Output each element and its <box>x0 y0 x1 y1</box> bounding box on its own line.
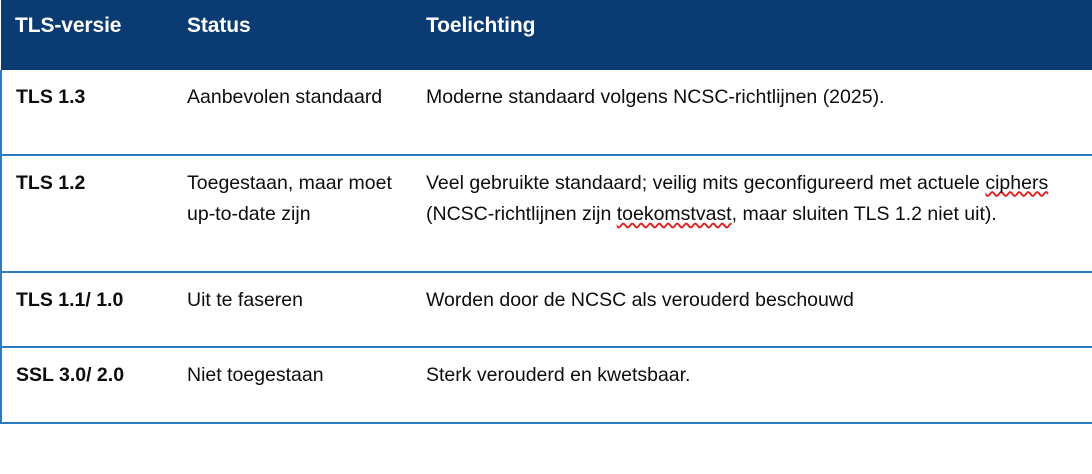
text-run: Veel gebruikte standaard; veilig mits ge… <box>426 172 985 194</box>
cell-status: Uit te faseren <box>184 272 421 348</box>
cell-version: SSL 3.0/ 2.0 <box>1 347 184 423</box>
table-header-row: TLS-versie Status Toelichting <box>1 0 1092 70</box>
column-header-tls-versie: TLS-versie <box>1 0 184 70</box>
cell-note: Moderne standaard volgens NCSC-richtlijn… <box>421 70 1092 155</box>
text-run: Worden door de NCSC als verouderd bescho… <box>426 289 854 311</box>
cell-status: Aanbevolen standaard <box>184 70 421 155</box>
table-row: TLS 1.1/ 1.0 Uit te faseren Worden door … <box>1 272 1092 348</box>
cell-status: Toegestaan, maar moet up-to-date zijn <box>184 155 421 272</box>
cell-version: TLS 1.1/ 1.0 <box>1 272 184 348</box>
misspelled-word[interactable]: ciphers <box>985 172 1048 194</box>
table-row: SSL 3.0/ 2.0 Niet toegestaan Sterk verou… <box>1 347 1092 423</box>
column-header-toelichting: Toelichting <box>421 0 1092 70</box>
column-header-status: Status <box>184 0 421 70</box>
text-run: (NCSC-richtlijnen zijn <box>426 203 617 225</box>
text-run: Sterk verouderd en kwetsbaar. <box>426 364 690 386</box>
text-run: Moderne standaard volgens NCSC-richtlijn… <box>426 86 884 108</box>
cell-version: TLS 1.3 <box>1 70 184 155</box>
table-body: TLS 1.3 Aanbevolen standaard Moderne sta… <box>1 70 1092 423</box>
tls-version-table: TLS-versie Status Toelichting TLS 1.3 Aa… <box>0 0 1092 424</box>
table-row: TLS 1.3 Aanbevolen standaard Moderne sta… <box>1 70 1092 155</box>
cell-note: Worden door de NCSC als verouderd bescho… <box>421 272 1092 348</box>
cell-note: Veel gebruikte standaard; veilig mits ge… <box>421 155 1092 272</box>
text-run: , maar sluiten TLS 1.2 niet uit). <box>732 203 997 225</box>
table-header: TLS-versie Status Toelichting <box>1 0 1092 70</box>
table-row: TLS 1.2 Toegestaan, maar moet up-to-date… <box>1 155 1092 272</box>
cell-note: Sterk verouderd en kwetsbaar. <box>421 347 1092 423</box>
cell-status: Niet toegestaan <box>184 347 421 423</box>
misspelled-word[interactable]: toekomstvast <box>617 203 732 225</box>
cell-version: TLS 1.2 <box>1 155 184 272</box>
